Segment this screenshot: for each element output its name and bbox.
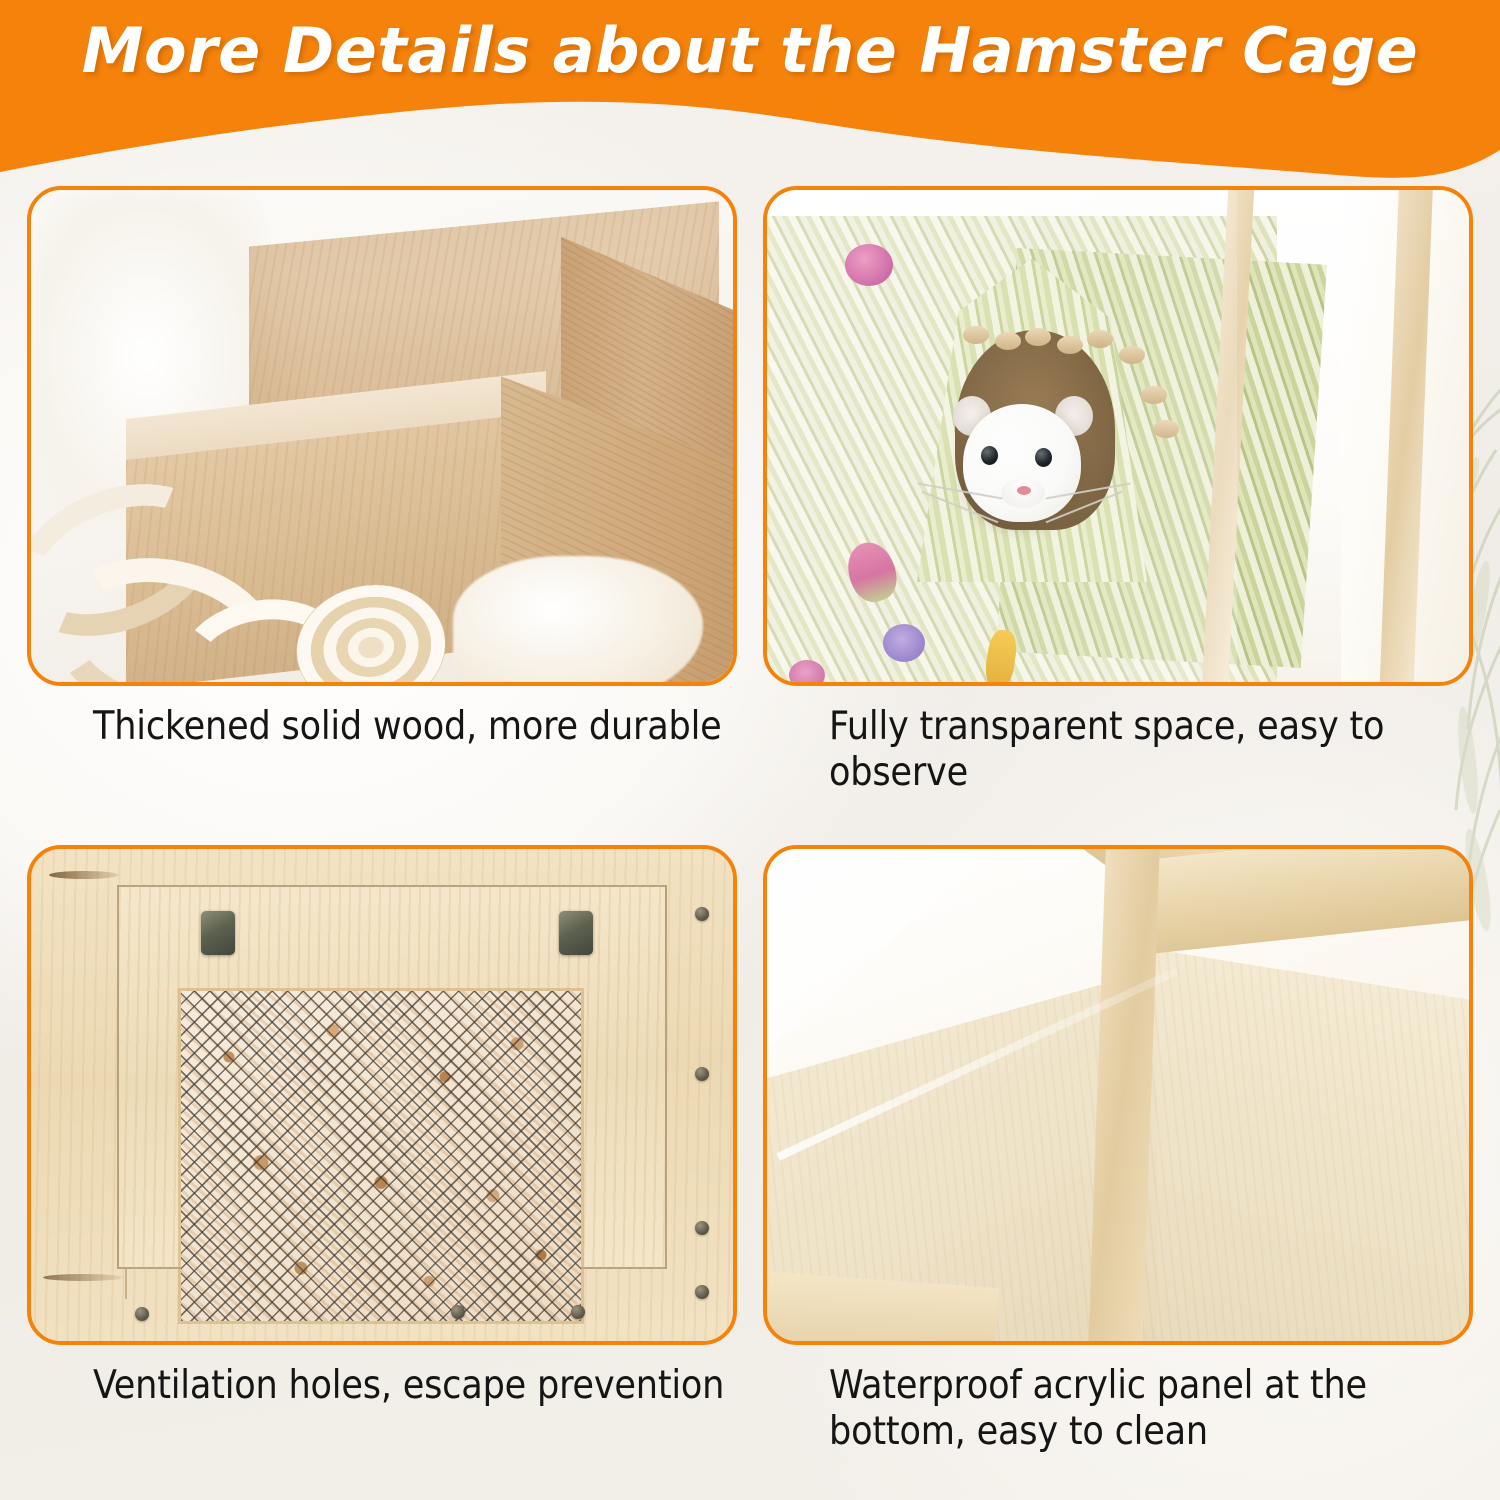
wood-shaving-cluster: [453, 556, 703, 686]
hamster-nose: [1017, 486, 1031, 495]
hamster-eye-right: [1035, 448, 1052, 467]
door-hinge-left[interactable]: [201, 911, 235, 955]
feature-card-transparent-space[interactable]: Fully transparent space, easy to observe: [763, 186, 1473, 841]
hay-pellet: [1153, 420, 1179, 438]
feature-caption-ventilation-holes: Ventilation holes, escape prevention: [93, 1363, 733, 1409]
hay-pellet: [1087, 330, 1113, 348]
hay-pellet: [963, 326, 989, 344]
cage-top-rail-right: [1123, 845, 1473, 956]
hay-pellet: [1057, 336, 1083, 354]
screw: [571, 1305, 585, 1319]
ventilation-mesh-window: [181, 991, 581, 1321]
wood-grain-texture: [1127, 945, 1473, 1345]
hay-pellet: [1119, 346, 1145, 364]
wire-mesh-icon: [181, 991, 581, 1321]
feature-image-waterproof-acrylic-panel[interactable]: [763, 845, 1473, 1345]
door-hinge-right[interactable]: [559, 911, 593, 955]
screw: [135, 1307, 149, 1321]
screw: [695, 907, 709, 921]
feature-caption-waterproof-acrylic-panel: Waterproof acrylic panel at the bottom, …: [829, 1363, 1469, 1455]
acrylic-bottom-panel-photo: [767, 849, 1469, 1341]
acrylic-panel-right: [1127, 945, 1473, 1345]
hamster-eye-left: [981, 446, 998, 465]
feature-card-thickened-solid-wood[interactable]: Thickened solid wood, more durable: [27, 186, 737, 841]
wood-knot-top: [49, 871, 119, 879]
feature-image-ventilation-holes[interactable]: [27, 845, 737, 1345]
hay-pellet: [995, 332, 1021, 350]
feature-image-thickened-solid-wood[interactable]: [27, 186, 737, 686]
feature-caption-thickened-solid-wood: Thickened solid wood, more durable: [93, 704, 733, 750]
wood-panel-seam: [31, 909, 127, 1299]
dried-flower-pink-bottom: [789, 660, 825, 686]
screw: [695, 1221, 709, 1235]
feature-image-transparent-space[interactable]: [763, 186, 1473, 686]
feature-card-ventilation-holes[interactable]: Ventilation holes, escape prevention: [27, 845, 737, 1500]
page-title: More Details about the Hamster Cage: [0, 14, 1500, 87]
screw: [695, 1067, 709, 1081]
hay-pellet: [1141, 386, 1167, 404]
feature-caption-transparent-space: Fully transparent space, easy to observe: [829, 704, 1469, 796]
screw: [695, 1285, 709, 1299]
dried-flower-pink-top: [845, 244, 893, 286]
hay-pellet: [1025, 328, 1051, 346]
hamster-in-hay-photo: [767, 190, 1469, 682]
feature-grid: Thickened solid wood, more durable: [27, 186, 1473, 1476]
feature-card-waterproof-acrylic-panel[interactable]: Waterproof acrylic panel at the bottom, …: [763, 845, 1473, 1500]
screw: [451, 1305, 465, 1319]
dried-flower-purple: [883, 624, 925, 662]
header-banner: More Details about the Hamster Cage: [0, 0, 1500, 190]
wood-blocks-photo: [31, 190, 733, 682]
ventilation-door-photo: [31, 849, 733, 1341]
